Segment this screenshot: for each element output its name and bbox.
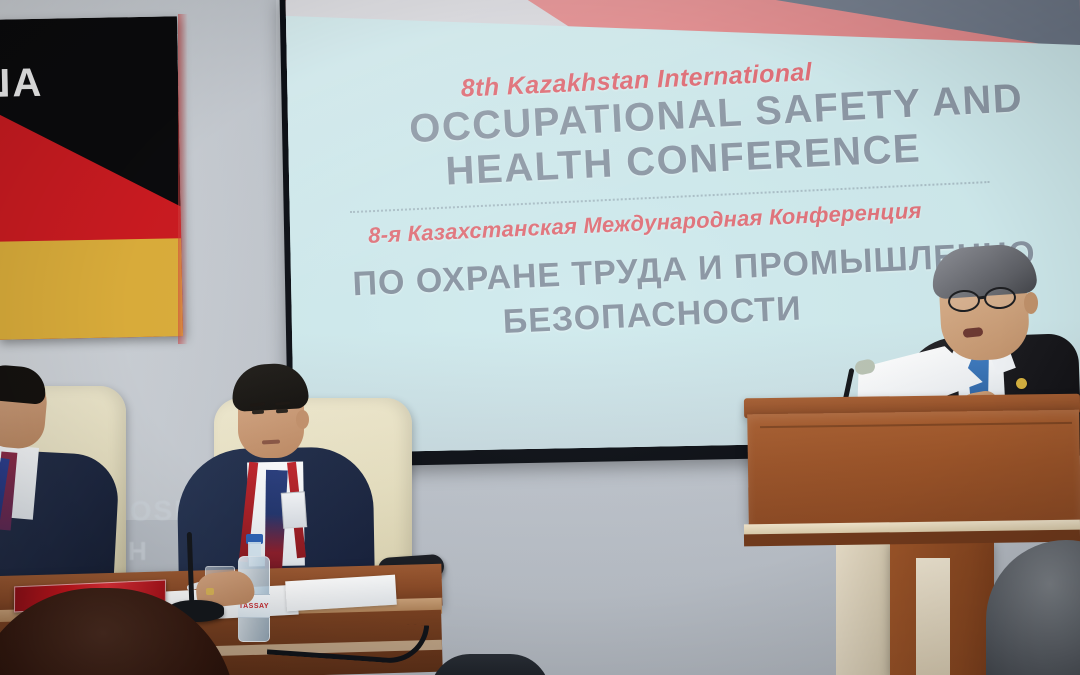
podium-column-side <box>836 542 892 675</box>
wedding-ring <box>206 588 214 595</box>
panelist-center-eye-right <box>276 409 288 414</box>
german-flag-banner: ША <box>0 16 183 340</box>
conference-photo: IOSH H ША 8th Kazakhstan International O… <box>0 0 1080 675</box>
panelist-center-badge <box>281 491 307 529</box>
speaker-ear <box>1024 292 1038 314</box>
panelist-center-ear <box>296 410 309 429</box>
speaker-lapel-pin <box>1016 378 1027 389</box>
podium-column-face <box>916 558 950 675</box>
banner-label: ША <box>0 61 44 107</box>
banner-edge-highlight <box>178 14 188 344</box>
flag-band-gold <box>0 238 183 340</box>
wall-kiosh-logo-text-2: H <box>128 536 147 567</box>
panelist-center-eye-left <box>252 410 264 415</box>
